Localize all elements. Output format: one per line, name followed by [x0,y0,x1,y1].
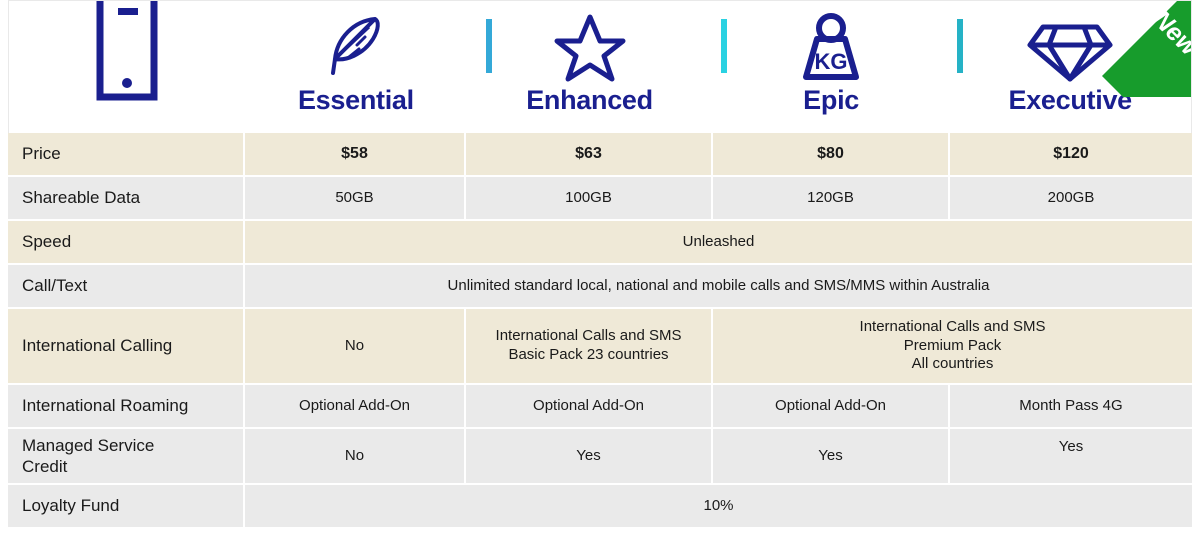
header-plan-essential[interactable]: Essential [246,1,467,133]
cell-managed-enhanced: Yes [466,429,713,485]
feather-icon [323,11,389,83]
cell-managed-executive: Yes [950,429,1192,485]
row-label-shareable-data: Shareable Data [8,177,245,221]
cell-data-epic: 120GB [713,177,950,221]
cell-call-text-all: Unlimited standard local, national and m… [245,265,1192,309]
cell-roaming-epic: Optional Add-On [713,385,950,429]
cell-price-enhanced: $63 [466,133,713,177]
header-brand-cell [9,1,246,133]
mobile-phone-icon [96,11,158,83]
plan-title-enhanced: Enhanced [526,87,653,114]
diamond-icon [1025,11,1115,83]
star-icon [553,11,627,83]
table-row-call-text: Call/Text Unlimited standard local, nati… [8,265,1192,309]
header-plan-executive[interactable]: Executive [949,1,1191,133]
cell-price-essential: $58 [245,133,466,177]
cell-data-essential: 50GB [245,177,466,221]
cell-loyalty-all: 10% [245,485,1192,529]
cell-price-epic: $80 [713,133,950,177]
cell-managed-essential: No [245,429,466,485]
table-header-row: Essential Enhanced KG Epic [8,0,1192,133]
cell-speed-all: Unleashed [245,221,1192,265]
row-label-international-calling: International Calling [8,309,245,385]
cell-managed-epic: Yes [713,429,950,485]
header-divider-1 [486,19,492,73]
table-row-loyalty-fund: Loyalty Fund 10% [8,485,1192,529]
cell-roaming-essential: Optional Add-On [245,385,466,429]
table-row-international-calling: International Calling No International C… [8,309,1192,385]
header-plan-enhanced[interactable]: Enhanced [466,1,713,133]
header-divider-2 [721,19,727,73]
svg-text:KG: KG [815,49,848,74]
row-label-international-roaming: International Roaming [8,385,245,429]
plan-title-essential: Essential [298,87,414,114]
cell-intl-calling-enhanced: International Calls and SMS Basic Pack 2… [466,309,713,385]
cell-data-enhanced: 100GB [466,177,713,221]
cell-price-executive: $120 [950,133,1192,177]
header-plan-epic[interactable]: KG Epic [713,1,950,133]
row-label-call-text: Call/Text [8,265,245,309]
plan-comparison-table: Essential Enhanced KG Epic [0,0,1200,545]
header-divider-3 [957,19,963,73]
row-label-loyalty-fund: Loyalty Fund [8,485,245,529]
row-label-price: Price [8,133,245,177]
cell-roaming-enhanced: Optional Add-On [466,385,713,429]
table-row-international-roaming: International Roaming Optional Add-On Op… [8,385,1192,429]
table-row-price: Price $58 $63 $80 $120 [8,133,1192,177]
table-row-managed-service-credit: Managed Service Credit No Yes Yes Yes [8,429,1192,485]
weight-kg-icon: KG [794,11,868,83]
table-row-shareable-data: Shareable Data 50GB 100GB 120GB 200GB [8,177,1192,221]
table-body: Price $58 $63 $80 $120 Shareable Data 50… [8,133,1192,529]
cell-data-executive: 200GB [950,177,1192,221]
row-label-speed: Speed [8,221,245,265]
cell-roaming-executive: Month Pass 4G [950,385,1192,429]
table-row-speed: Speed Unleashed [8,221,1192,265]
plan-title-executive: Executive [1009,87,1132,114]
cell-intl-calling-epic-executive: International Calls and SMS Premium Pack… [713,309,1192,385]
plan-title-epic: Epic [803,87,859,114]
cell-intl-calling-essential: No [245,309,466,385]
row-label-managed-service-credit: Managed Service Credit [8,429,245,485]
